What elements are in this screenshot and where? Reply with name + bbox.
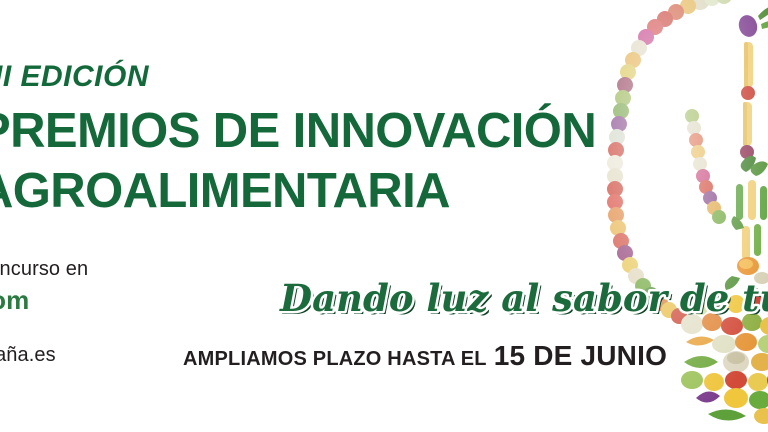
headline-line-1: PREMIOS DE INNOVACIÓN (0, 104, 596, 158)
slogan-script: Dando luz al sabor de tus ideas Dando lu… (278, 276, 688, 324)
page-title: PREMIOS DE INNOVACIÓN AGROALIMENTARIA (0, 101, 596, 221)
organisation-website[interactable]: olacaña.es (0, 344, 56, 367)
contest-website-dotcom[interactable]: .com (0, 285, 88, 316)
deadline-date: 15 DE JUNIO (494, 340, 667, 371)
bulb-outline-right (685, 0, 732, 224)
contest-info: l concurso en .com (0, 258, 88, 316)
deadline-line: AMPLIAMOS PLAZO HASTA EL15 DE JUNIO (183, 340, 667, 372)
bulb-filament-produce (725, 6, 768, 290)
deadline-prefix: AMPLIAMOS PLAZO HASTA EL (183, 348, 487, 370)
poster-canvas: II EDICIÓN PREMIOS DE INNOVACIÓN AGROALI… (0, 0, 768, 432)
headline-line-2: AGROALIMENTARIA (0, 161, 596, 221)
edition-label: II EDICIÓN (0, 60, 149, 94)
contest-info-line-1: l concurso en (0, 258, 88, 281)
slogan-text: Dando luz al sabor de tus ideas (279, 276, 768, 320)
